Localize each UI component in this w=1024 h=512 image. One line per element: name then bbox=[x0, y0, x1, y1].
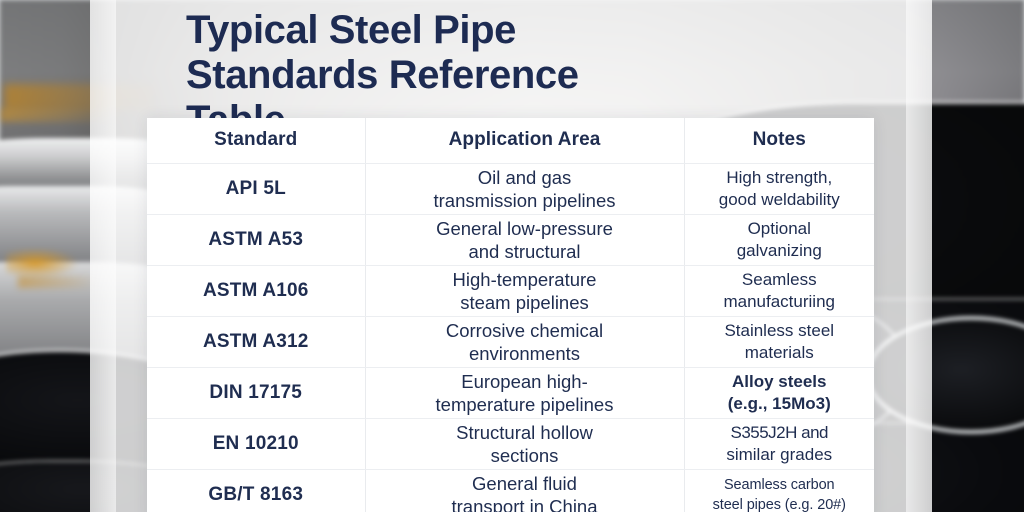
cell-notes: Optional galvanizing bbox=[684, 214, 874, 265]
cell-standard: API 5L bbox=[147, 163, 365, 214]
cell-application-area: General fluid transport in China bbox=[365, 469, 684, 512]
page-title-line-1: Typical Steel Pipe bbox=[186, 8, 846, 53]
cell-application-area: General low-pressure and structural bbox=[365, 214, 684, 265]
cell-application-area: High-temperature steam pipelines bbox=[365, 265, 684, 316]
column-header-application-area: Application Area bbox=[365, 118, 684, 163]
table-row: EN 10210 Structural hollow sections S355… bbox=[147, 418, 874, 469]
cell-application-area: Structural hollow sections bbox=[365, 418, 684, 469]
table-row: GB/T 8163 General fluid transport in Chi… bbox=[147, 469, 874, 512]
cell-standard: GB/T 8163 bbox=[147, 469, 365, 512]
standards-table: Standard Application Area Notes API 5L O… bbox=[147, 118, 874, 512]
cell-standard: EN 10210 bbox=[147, 418, 365, 469]
warehouse-light-glow bbox=[6, 248, 78, 278]
warehouse-light-glow bbox=[18, 276, 98, 288]
overlay-edge-fade-left bbox=[90, 0, 116, 512]
cell-standard: ASTM A312 bbox=[147, 316, 365, 367]
overlay-edge-fade-right bbox=[906, 0, 932, 512]
cell-standard: ASTM A106 bbox=[147, 265, 365, 316]
cell-standard: DIN 17175 bbox=[147, 367, 365, 418]
slide-canvas: Typical Steel Pipe Standards Reference T… bbox=[0, 0, 1024, 512]
standards-table-card: Standard Application Area Notes API 5L O… bbox=[147, 118, 874, 512]
column-header-notes: Notes bbox=[684, 118, 874, 163]
cell-application-area: Corrosive chemical environments bbox=[365, 316, 684, 367]
cell-standard: ASTM A53 bbox=[147, 214, 365, 265]
cell-notes: Stainless steel materials bbox=[684, 316, 874, 367]
page-title-line-2: Standards Reference bbox=[186, 53, 846, 98]
table-header-row: Standard Application Area Notes bbox=[147, 118, 874, 163]
cell-notes: Alloy steels (e.g., 15Mo3) bbox=[684, 367, 874, 418]
table-row: ASTM A53 General low-pressure and struct… bbox=[147, 214, 874, 265]
cell-notes: Seamless carbon steel pipes (e.g. 20#) bbox=[684, 469, 874, 512]
cell-application-area: European high- temperature pipelines bbox=[365, 367, 684, 418]
table-row: API 5L Oil and gas transmission pipeline… bbox=[147, 163, 874, 214]
table-row: ASTM A106 High-temperature steam pipelin… bbox=[147, 265, 874, 316]
table-row: DIN 17175 European high- temperature pip… bbox=[147, 367, 874, 418]
cell-application-area: Oil and gas transmission pipelines bbox=[365, 163, 684, 214]
cell-notes: High strength, good weldability bbox=[684, 163, 874, 214]
cell-notes: S355J2H and similar grades bbox=[684, 418, 874, 469]
table-row: ASTM A312 Corrosive chemical environment… bbox=[147, 316, 874, 367]
column-header-standard: Standard bbox=[147, 118, 365, 163]
cell-notes: Seamless manufacturiing bbox=[684, 265, 874, 316]
